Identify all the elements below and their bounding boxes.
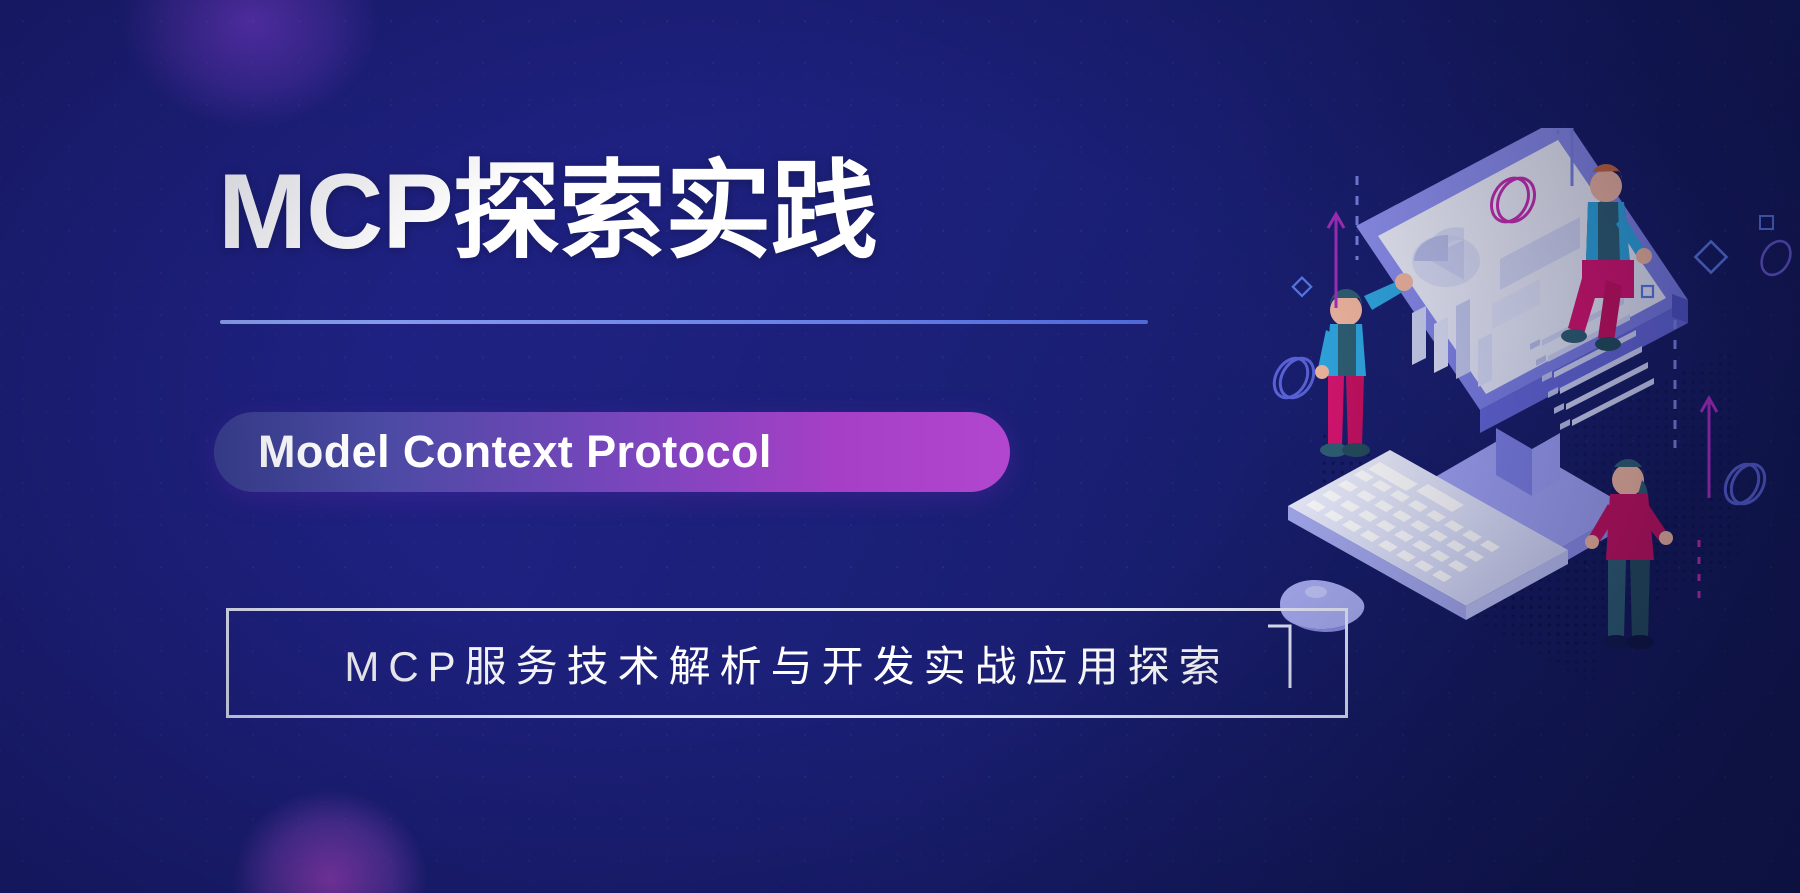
subtitle-pill-label: Model Context Protocol [258, 426, 772, 478]
headline-group: MCP探索实践 [218, 150, 1378, 273]
page-title: MCP探索实践 [218, 150, 1378, 273]
person-pointing [1315, 273, 1413, 457]
mcp-promo-banner: MCP探索实践 Model Context Protocol MCP服务技术解析… [0, 0, 1800, 893]
tagline-box: MCP服务技术解析与开发实战应用探索 [226, 608, 1348, 718]
tagline-label: MCP服务技术解析与开发实战应用探索 [344, 633, 1229, 694]
title-divider [220, 320, 1148, 324]
subtitle-pill-badge: Model Context Protocol [214, 412, 1010, 492]
